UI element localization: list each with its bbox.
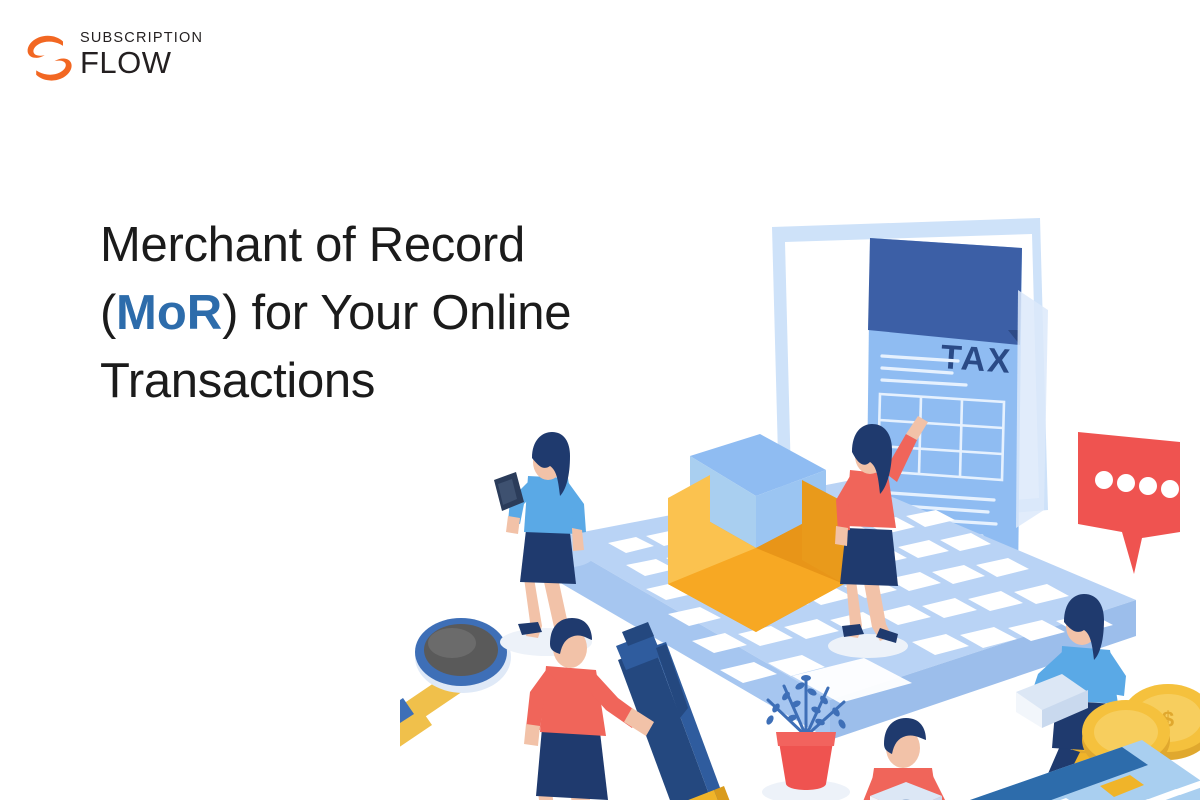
hero-illustration: TAX: [400, 180, 1200, 800]
speech-bubble-icon: [1078, 432, 1180, 574]
brand-wordmark: SUBSCRIPTION FLOW: [80, 30, 230, 79]
hero-banner: SUBSCRIPTION FLOW Merchant of Record (Mo…: [0, 0, 1200, 800]
person-man-sitting-with-laptop: [856, 718, 952, 800]
magnifier-icon: [400, 618, 511, 775]
headline-highlight-mor: MoR: [116, 286, 222, 340]
brand-logo[interactable]: SUBSCRIPTION FLOW: [22, 28, 232, 90]
brand-line-subscription: SUBSCRIPTION: [80, 30, 230, 46]
swirl-s-logo-icon: [22, 32, 78, 84]
brand-line-flow: FLOW: [80, 47, 230, 79]
